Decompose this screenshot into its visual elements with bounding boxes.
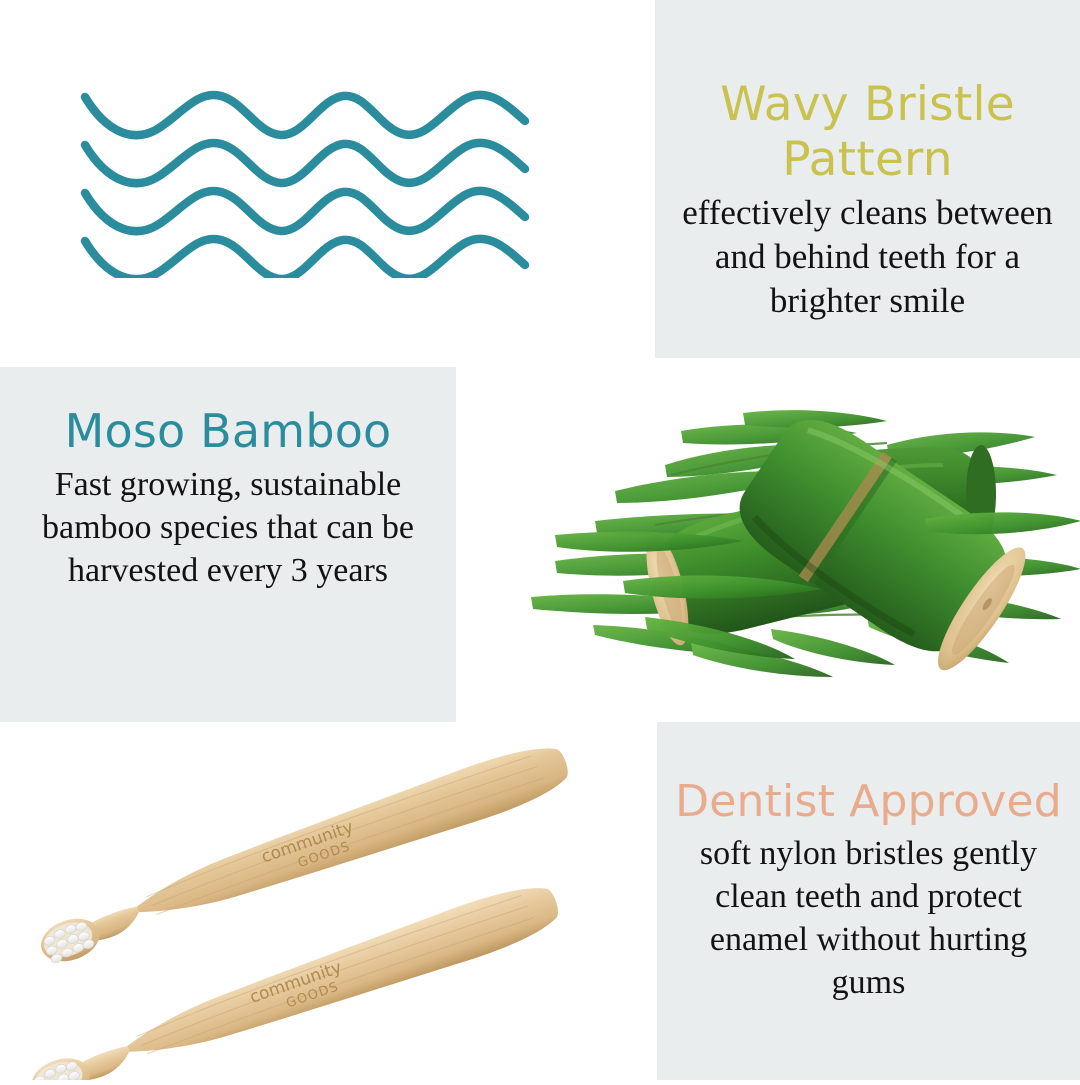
bamboo-culms-photo xyxy=(495,385,1080,695)
feature-panel-moso-bamboo: Moso Bamboo Fast growing, sustainable ba… xyxy=(0,367,456,722)
wavy-lines-icon xyxy=(80,88,530,278)
feature-panel-wavy-bristle: Wavy Bristle Pattern effectively cleans … xyxy=(655,0,1080,358)
feature-title-wavy-bristle: Wavy Bristle Pattern xyxy=(673,78,1062,187)
bamboo-toothbrush-photo: community GOODS xyxy=(10,725,660,1080)
feature-title-moso-bamboo: Moso Bamboo xyxy=(16,405,440,458)
feature-body-moso-bamboo: Fast growing, sustainable bamboo species… xyxy=(16,464,440,592)
infographic-canvas: Wavy Bristle Pattern effectively cleans … xyxy=(0,0,1080,1080)
feature-title-dentist-approved: Dentist Approved xyxy=(669,776,1068,827)
feature-body-dentist-approved: soft nylon bristles gently clean teeth a… xyxy=(669,833,1068,1004)
feature-panel-dentist-approved: Dentist Approved soft nylon bristles gen… xyxy=(657,722,1080,1080)
feature-body-wavy-bristle: effectively cleans between and behind te… xyxy=(673,191,1062,323)
